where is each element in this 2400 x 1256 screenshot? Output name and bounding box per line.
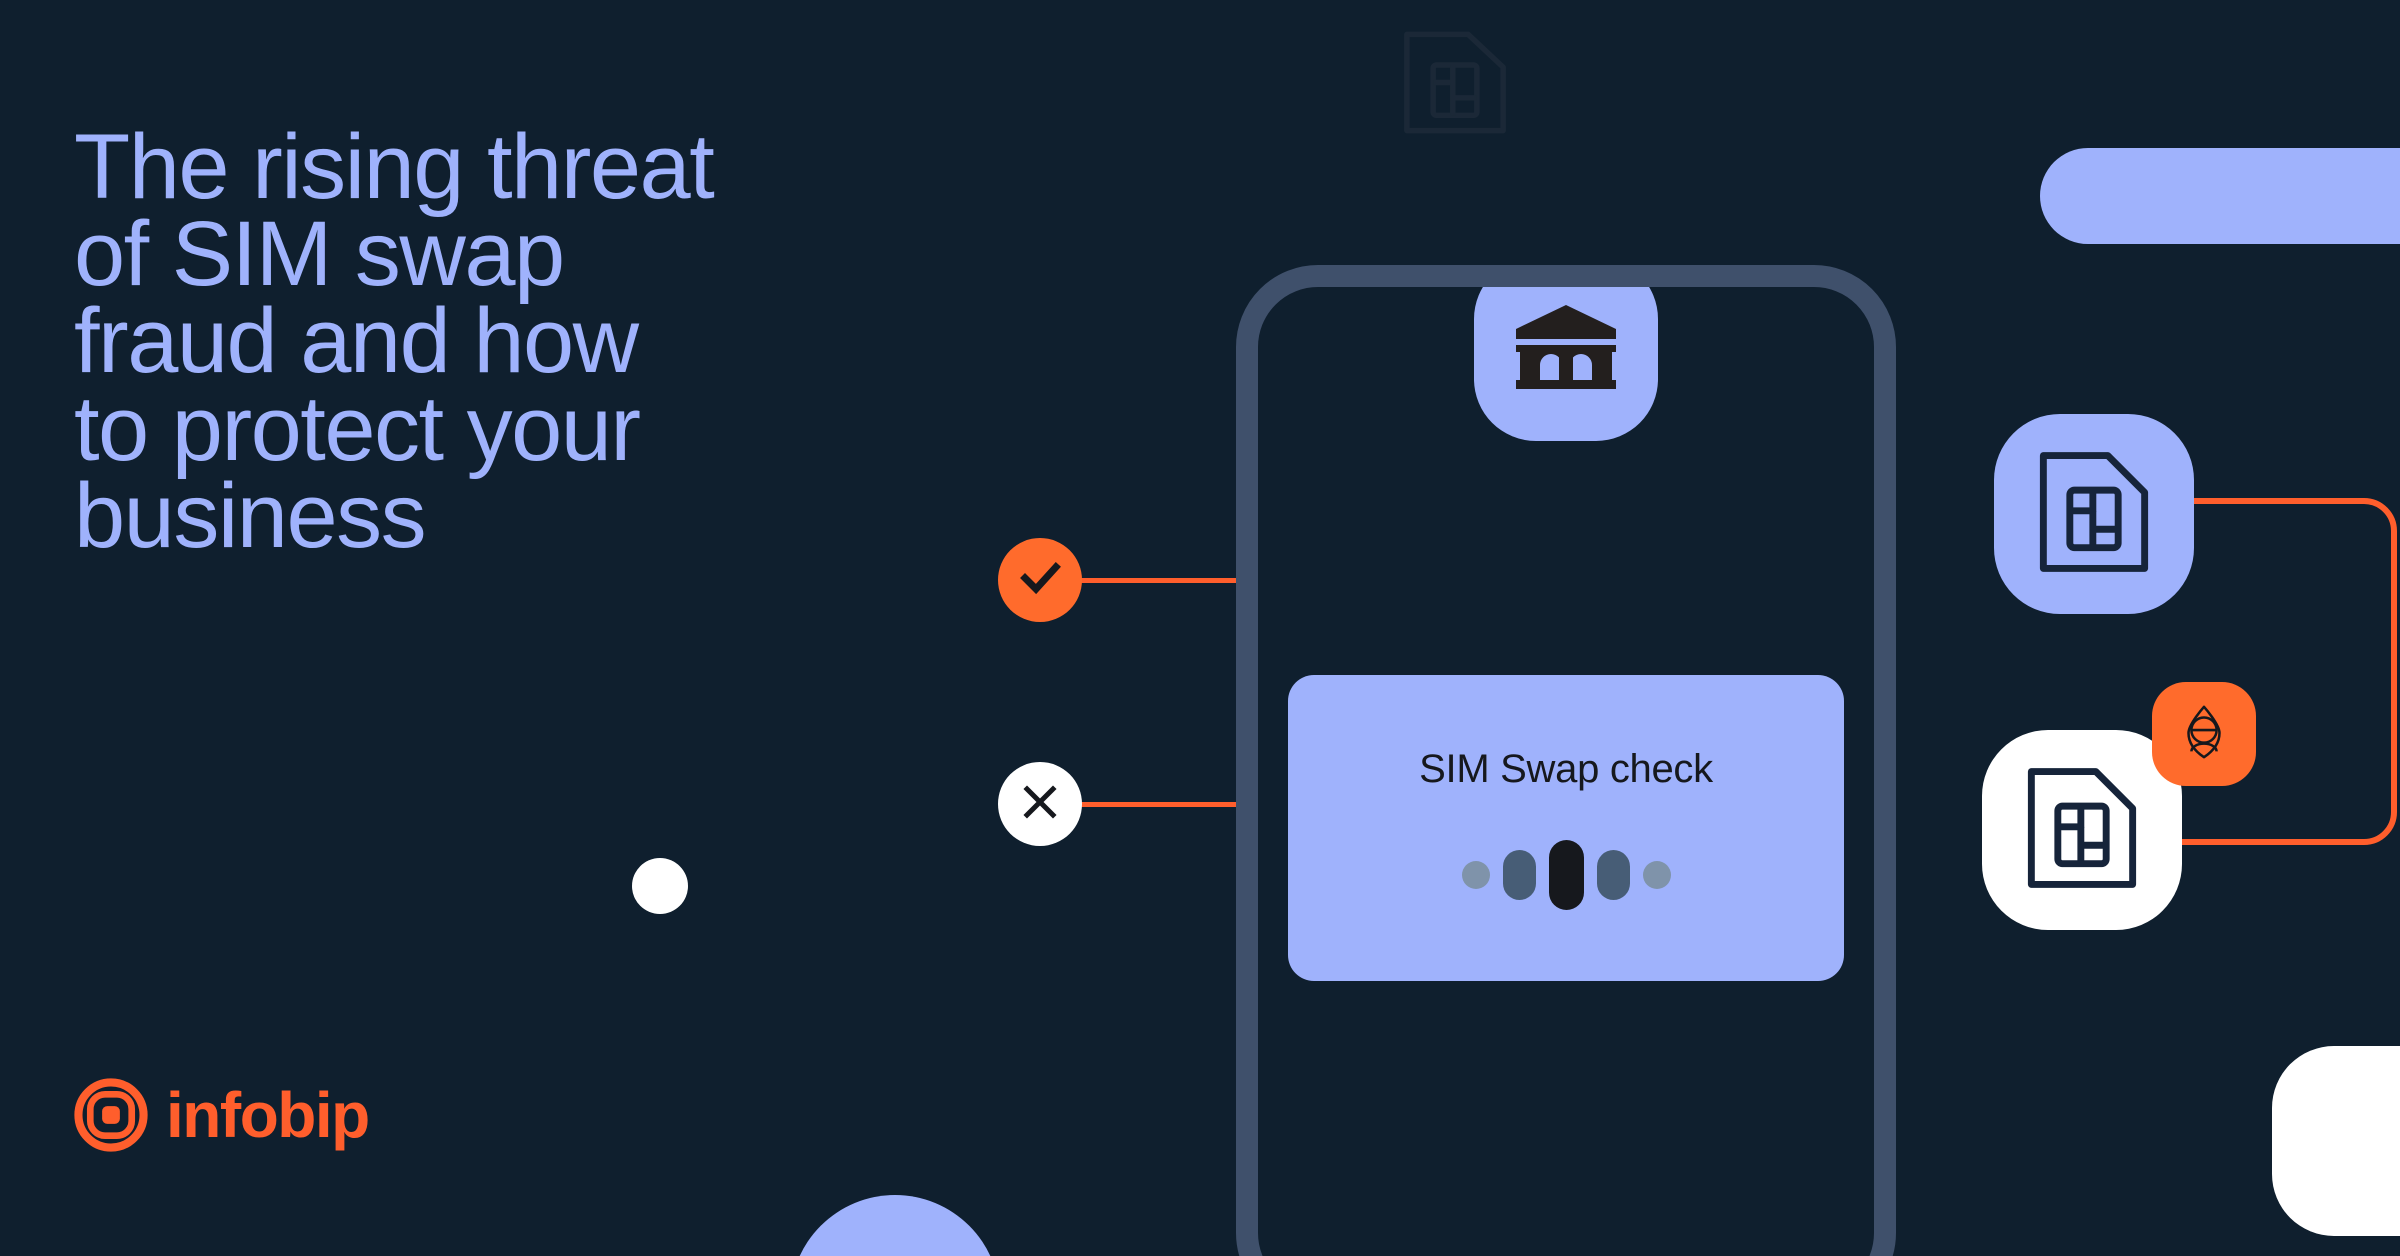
sim-swap-check-title: SIM Swap check	[1419, 747, 1713, 792]
sim-swap-check-card: SIM Swap check	[1288, 675, 1844, 981]
phone-mockup: SIM Swap check	[1236, 265, 1896, 1256]
loading-dot	[1503, 850, 1536, 900]
loading-indicator	[1462, 840, 1671, 910]
phone-screen: SIM Swap check	[1258, 287, 1874, 1256]
loading-dot	[1462, 861, 1490, 889]
loading-dot	[1549, 840, 1584, 910]
sim-card-tile-original[interactable]	[1994, 414, 2194, 614]
hooded-fraudster-icon	[2173, 701, 2235, 768]
connector-line-check	[1078, 578, 1238, 583]
status-badge-verified[interactable]	[998, 538, 1082, 622]
sim-card-icon	[2024, 767, 2140, 894]
page-title: The rising threat of SIM swap fraud and …	[74, 124, 1074, 561]
ghost-sim-card-watermark-icon	[1400, 30, 1510, 135]
decor-circle-bottom-center	[790, 1195, 1000, 1256]
connector-line-cross	[1078, 802, 1238, 807]
status-badge-blocked[interactable]	[998, 762, 1082, 846]
infobip-logo: infobip	[74, 1078, 369, 1152]
bank-app-icon-tile[interactable]	[1474, 287, 1658, 441]
sim-card-icon	[2036, 451, 2152, 578]
sim-swap-connector-path	[2168, 496, 2400, 852]
decor-squircle-bottom-right	[2272, 1046, 2400, 1236]
check-icon	[1016, 554, 1064, 607]
loading-dot	[1643, 861, 1671, 889]
decor-pill-top-right	[2040, 148, 2400, 244]
infobip-target-logo-icon	[74, 1078, 148, 1152]
promo-banner: The rising threat of SIM swap fraud and …	[0, 0, 2400, 1256]
fraudster-badge[interactable]	[2152, 682, 2256, 786]
close-x-icon	[1019, 781, 1061, 828]
decor-dot-white-left	[632, 858, 688, 914]
loading-dot	[1597, 850, 1630, 900]
bank-icon	[1514, 299, 1618, 400]
brand-name: infobip	[166, 1083, 369, 1147]
